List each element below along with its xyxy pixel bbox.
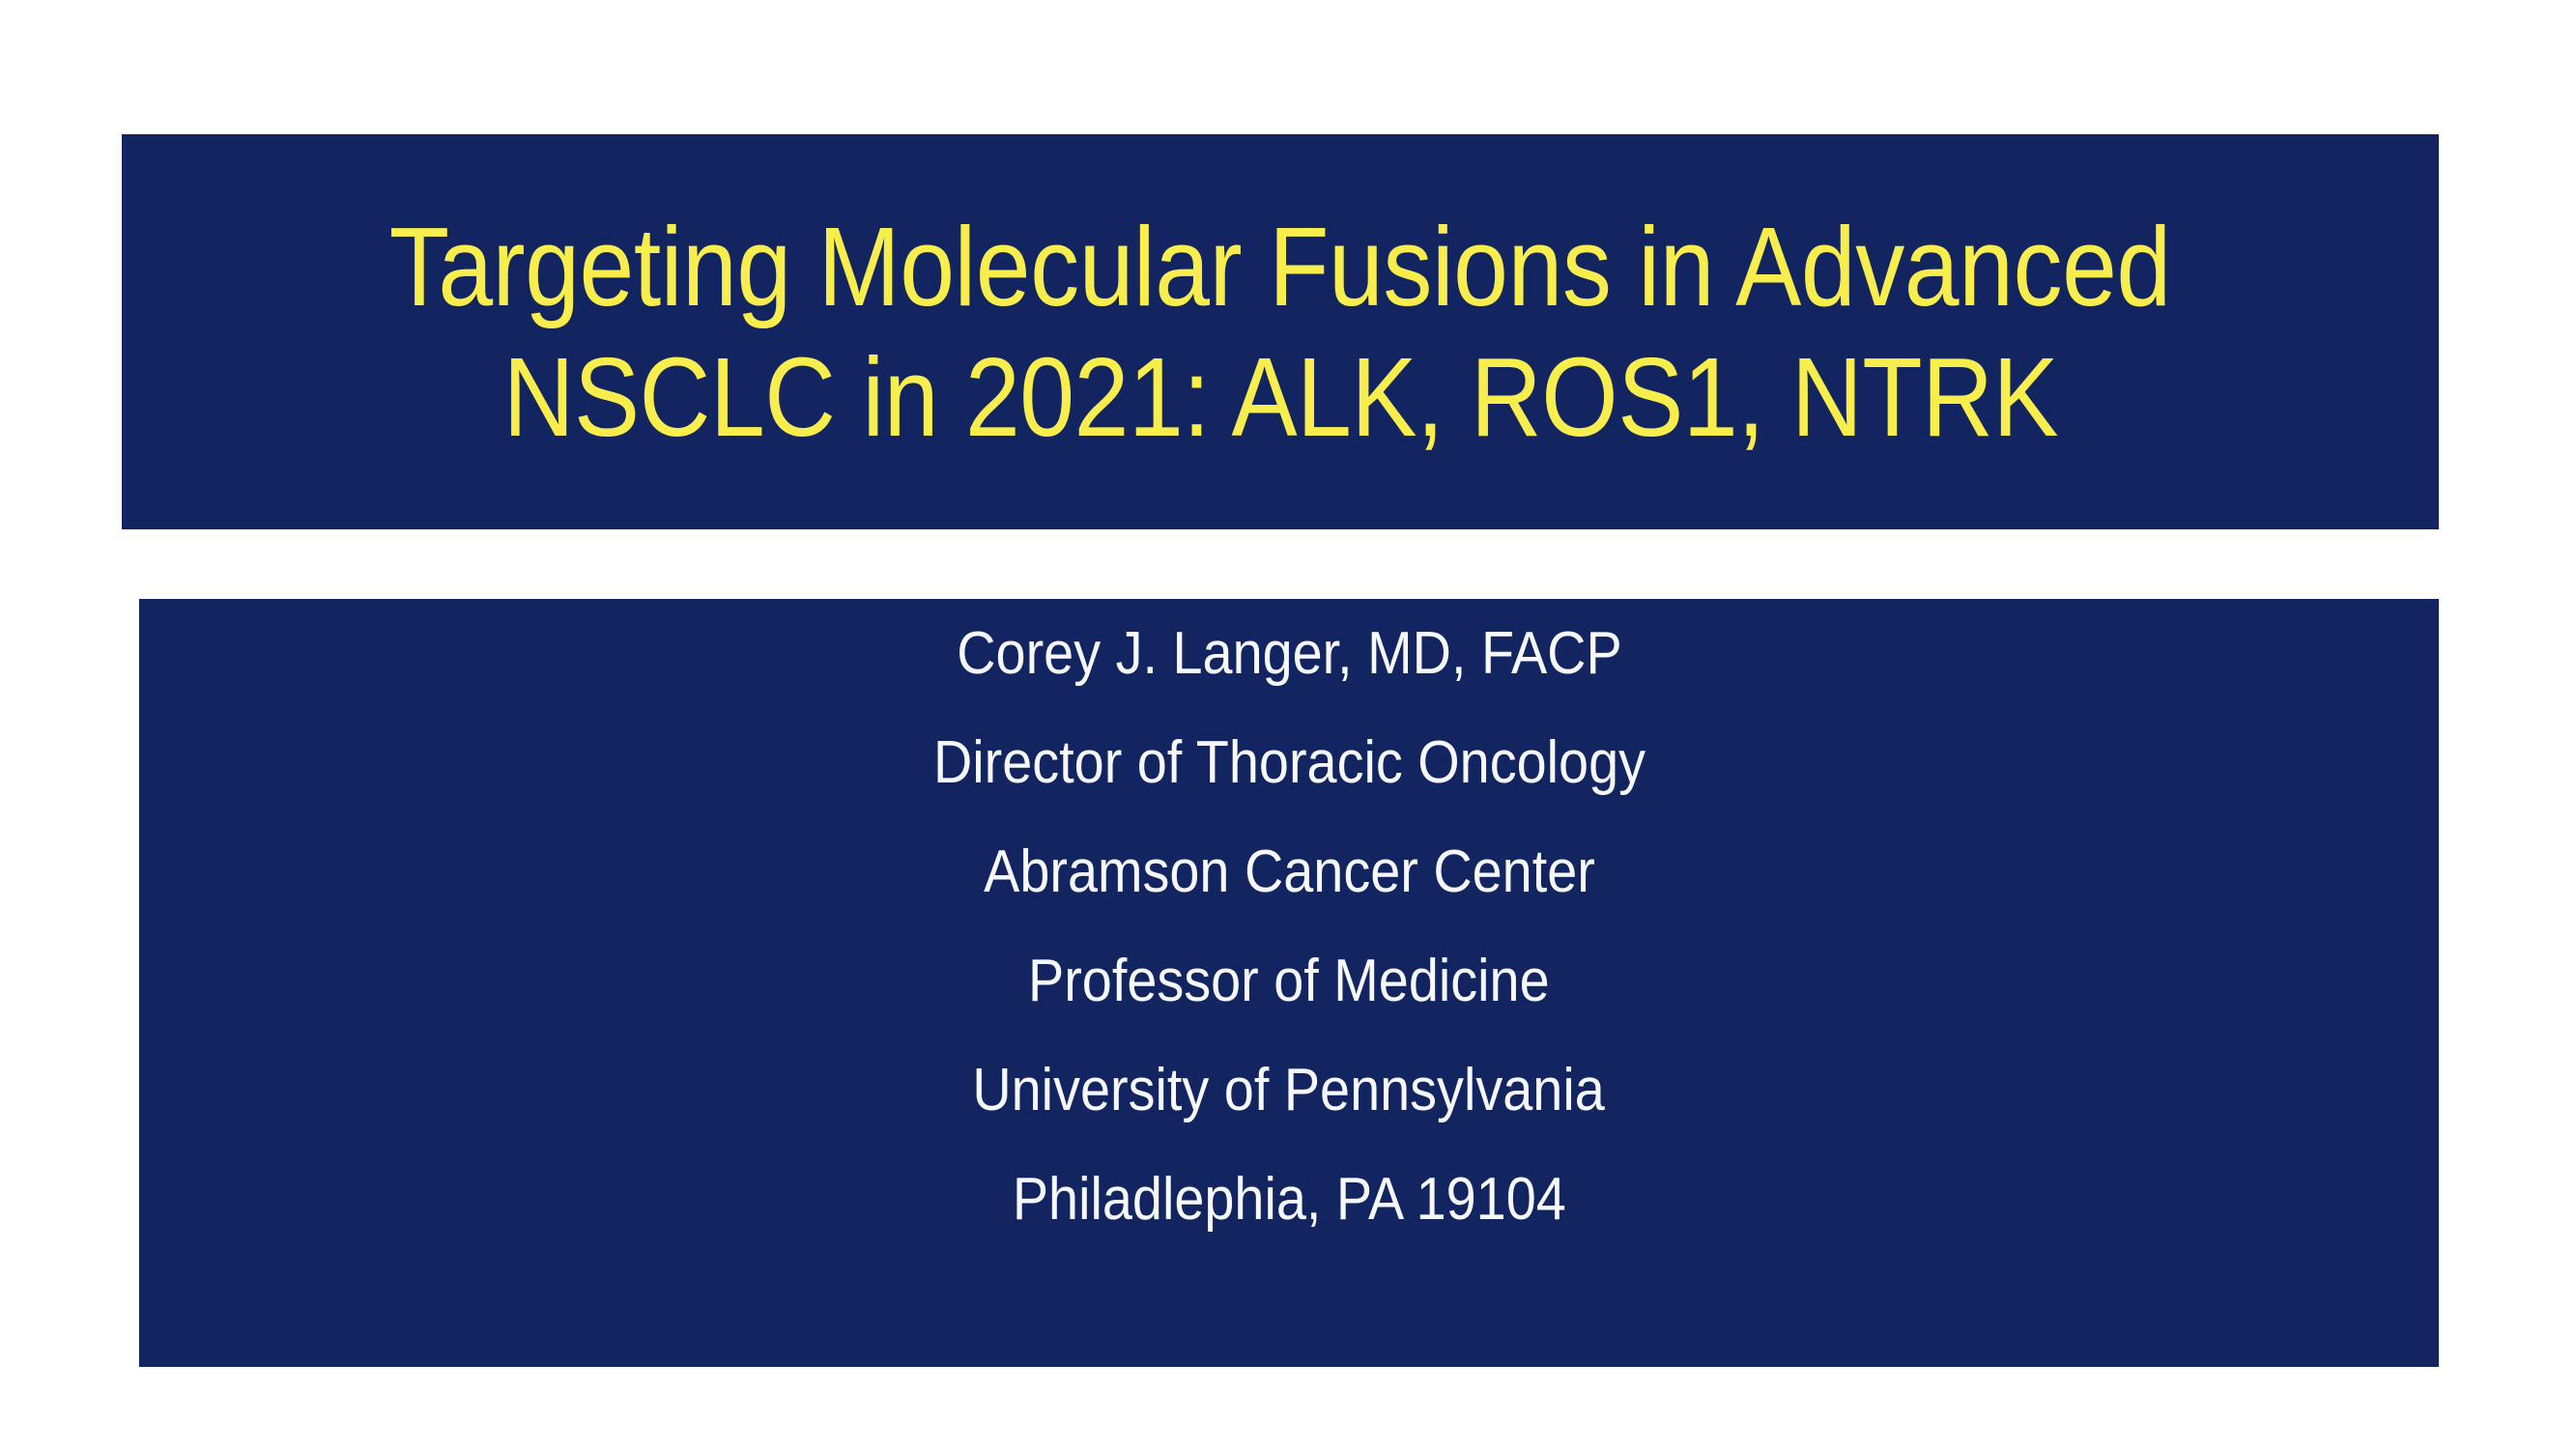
title-panel: Targeting Molecular Fusions in Advanced …	[122, 134, 2439, 529]
presenter-title: Director of Thoracic Oncology	[932, 733, 1645, 793]
presenter-location: Philadlephia, PA 19104	[1013, 1170, 1566, 1230]
presenter-university: University of Pennsylvania	[973, 1061, 1605, 1121]
presenter-academic-rank: Professor of Medicine	[1028, 952, 1550, 1011]
presenter-name: Corey J. Langer, MD, FACP	[957, 624, 1621, 684]
presenter-institution: Abramson Cancer Center	[984, 842, 1595, 902]
presenter-panel: Corey J. Langer, MD, FACP Director of Th…	[139, 599, 2439, 1367]
title-line-2: NSCLC in 2021: ALK, ROS1, NTRK	[502, 332, 2057, 463]
title-line-1: Targeting Molecular Fusions in Advanced	[389, 202, 2171, 332]
presentation-slide: Targeting Molecular Fusions in Advanced …	[0, 0, 2576, 1449]
